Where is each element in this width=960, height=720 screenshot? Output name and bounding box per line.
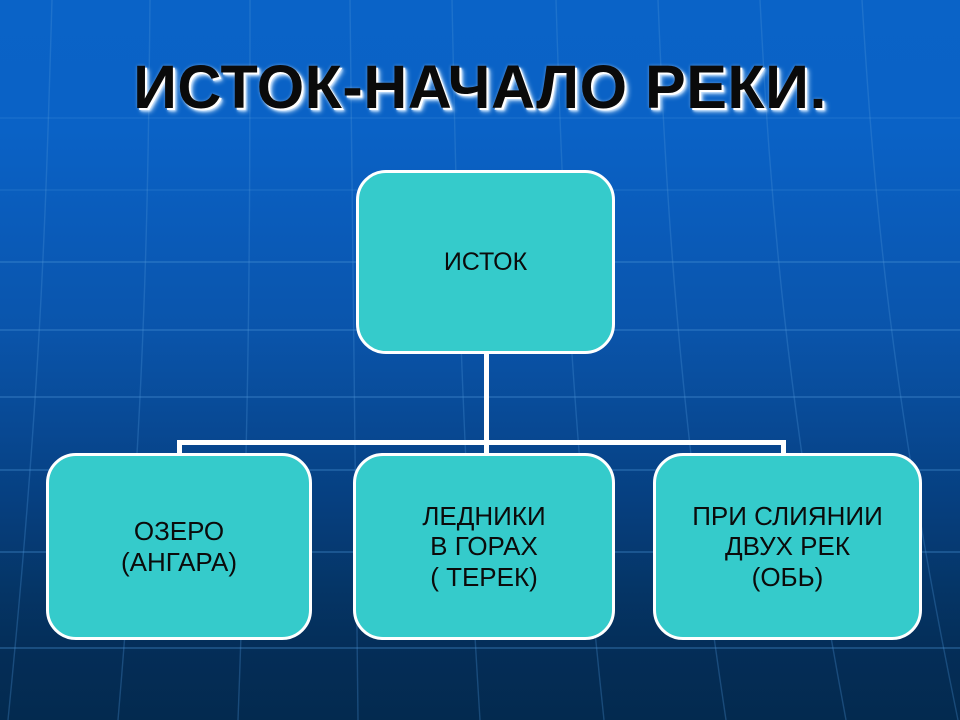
diagram-node-confluence-label: ПРИ СЛИЯНИИ ДВУХ РЕК (ОБЬ) (692, 501, 883, 591)
node-line: ЛЕДНИКИ (422, 501, 545, 531)
page-title: ИСТОК-НАЧАЛО РЕКИ. (0, 52, 960, 122)
diagram-node-lake-label: ОЗЕРО (АНГАРА) (121, 516, 237, 576)
node-line: ОЗЕРО (121, 516, 237, 546)
node-line: ПРИ СЛИЯНИИ (692, 501, 883, 531)
node-line: ДВУХ РЕК (692, 531, 883, 561)
diagram-node-glacier[interactable]: ЛЕДНИКИ В ГОРАХ ( ТЕРЕК) (353, 453, 615, 640)
presentation-slide: ИСТОК-НАЧАЛО РЕКИ. ИСТОК ОЗЕРО (АНГАРА) … (0, 0, 960, 720)
diagram-node-confluence[interactable]: ПРИ СЛИЯНИИ ДВУХ РЕК (ОБЬ) (653, 453, 922, 640)
node-line: В ГОРАХ (422, 531, 545, 561)
diagram-node-lake[interactable]: ОЗЕРО (АНГАРА) (46, 453, 312, 640)
connector-vertical-root (484, 352, 489, 444)
node-line: (АНГАРА) (121, 547, 237, 577)
diagram-node-source-label: ИСТОК (444, 248, 527, 277)
connector-horizontal-bus (177, 440, 786, 445)
node-line: (ОБЬ) (692, 562, 883, 592)
diagram-node-glacier-label: ЛЕДНИКИ В ГОРАХ ( ТЕРЕК) (422, 501, 545, 591)
diagram-node-source[interactable]: ИСТОК (356, 170, 615, 354)
node-line: ( ТЕРЕК) (422, 562, 545, 592)
